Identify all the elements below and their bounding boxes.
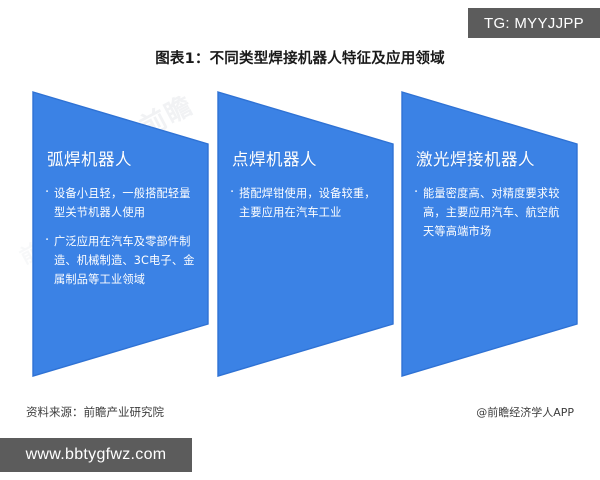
panel-bullet-list-arc: 设备小且轻，一般搭配轻量型关节机器人使用 广泛应用在汽车及零部件制造、机械制造、… — [45, 184, 197, 299]
panel-heading-spot: 点焊机器人 — [232, 146, 317, 170]
panel-bullet-list-spot: 搭配焊钳使用，设备较重，主要应用在汽车工业 — [230, 184, 382, 232]
panel-bullet-list-laser: 能量密度高、对精度要求较高，主要应用汽车、航空航天等高端市场 — [414, 184, 566, 251]
panel-spot-welding-robot[interactable]: 点焊机器人 搭配焊钳使用，设备较重，主要应用在汽车工业 — [216, 88, 399, 380]
source-note: 资料来源：前瞻产业研究院 — [26, 404, 164, 420]
panel-arc-welding-robot[interactable]: 弧焊机器人 设备小且轻，一般搭配轻量型关节机器人使用 广泛应用在汽车及零部件制造… — [31, 88, 214, 380]
panel-bullet-item: 设备小且轻，一般搭配轻量型关节机器人使用 — [45, 184, 197, 222]
app-attribution: @前瞻经济学人APP — [476, 404, 574, 420]
panel-bullet-item: 搭配焊钳使用，设备较重，主要应用在汽车工业 — [230, 184, 382, 222]
panel-heading-laser: 激光焊接机器人 — [416, 146, 535, 170]
panel-heading-arc: 弧焊机器人 — [47, 146, 132, 170]
panel-bullet-item: 广泛应用在汽车及零部件制造、机械制造、3C电子、金属制品等工业领域 — [45, 232, 197, 289]
panel-laser-welding-robot[interactable]: 激光焊接机器人 能量密度高、对精度要求较高，主要应用汽车、航空航天等高端市场 — [400, 88, 583, 380]
website-watermark-badge: www.bbtygfwz.com — [0, 438, 192, 472]
telegram-watermark-badge: TG: MYYJJPP — [468, 8, 600, 38]
panel-content-laser: 激光焊接机器人 能量密度高、对精度要求较高，主要应用汽车、航空航天等高端市场 — [400, 88, 583, 380]
panel-content-arc: 弧焊机器人 设备小且轻，一般搭配轻量型关节机器人使用 广泛应用在汽车及零部件制造… — [31, 88, 214, 380]
panel-bullet-item: 能量密度高、对精度要求较高，主要应用汽车、航空航天等高端市场 — [414, 184, 566, 241]
panel-content-spot: 点焊机器人 搭配焊钳使用，设备较重，主要应用在汽车工业 — [216, 88, 399, 380]
